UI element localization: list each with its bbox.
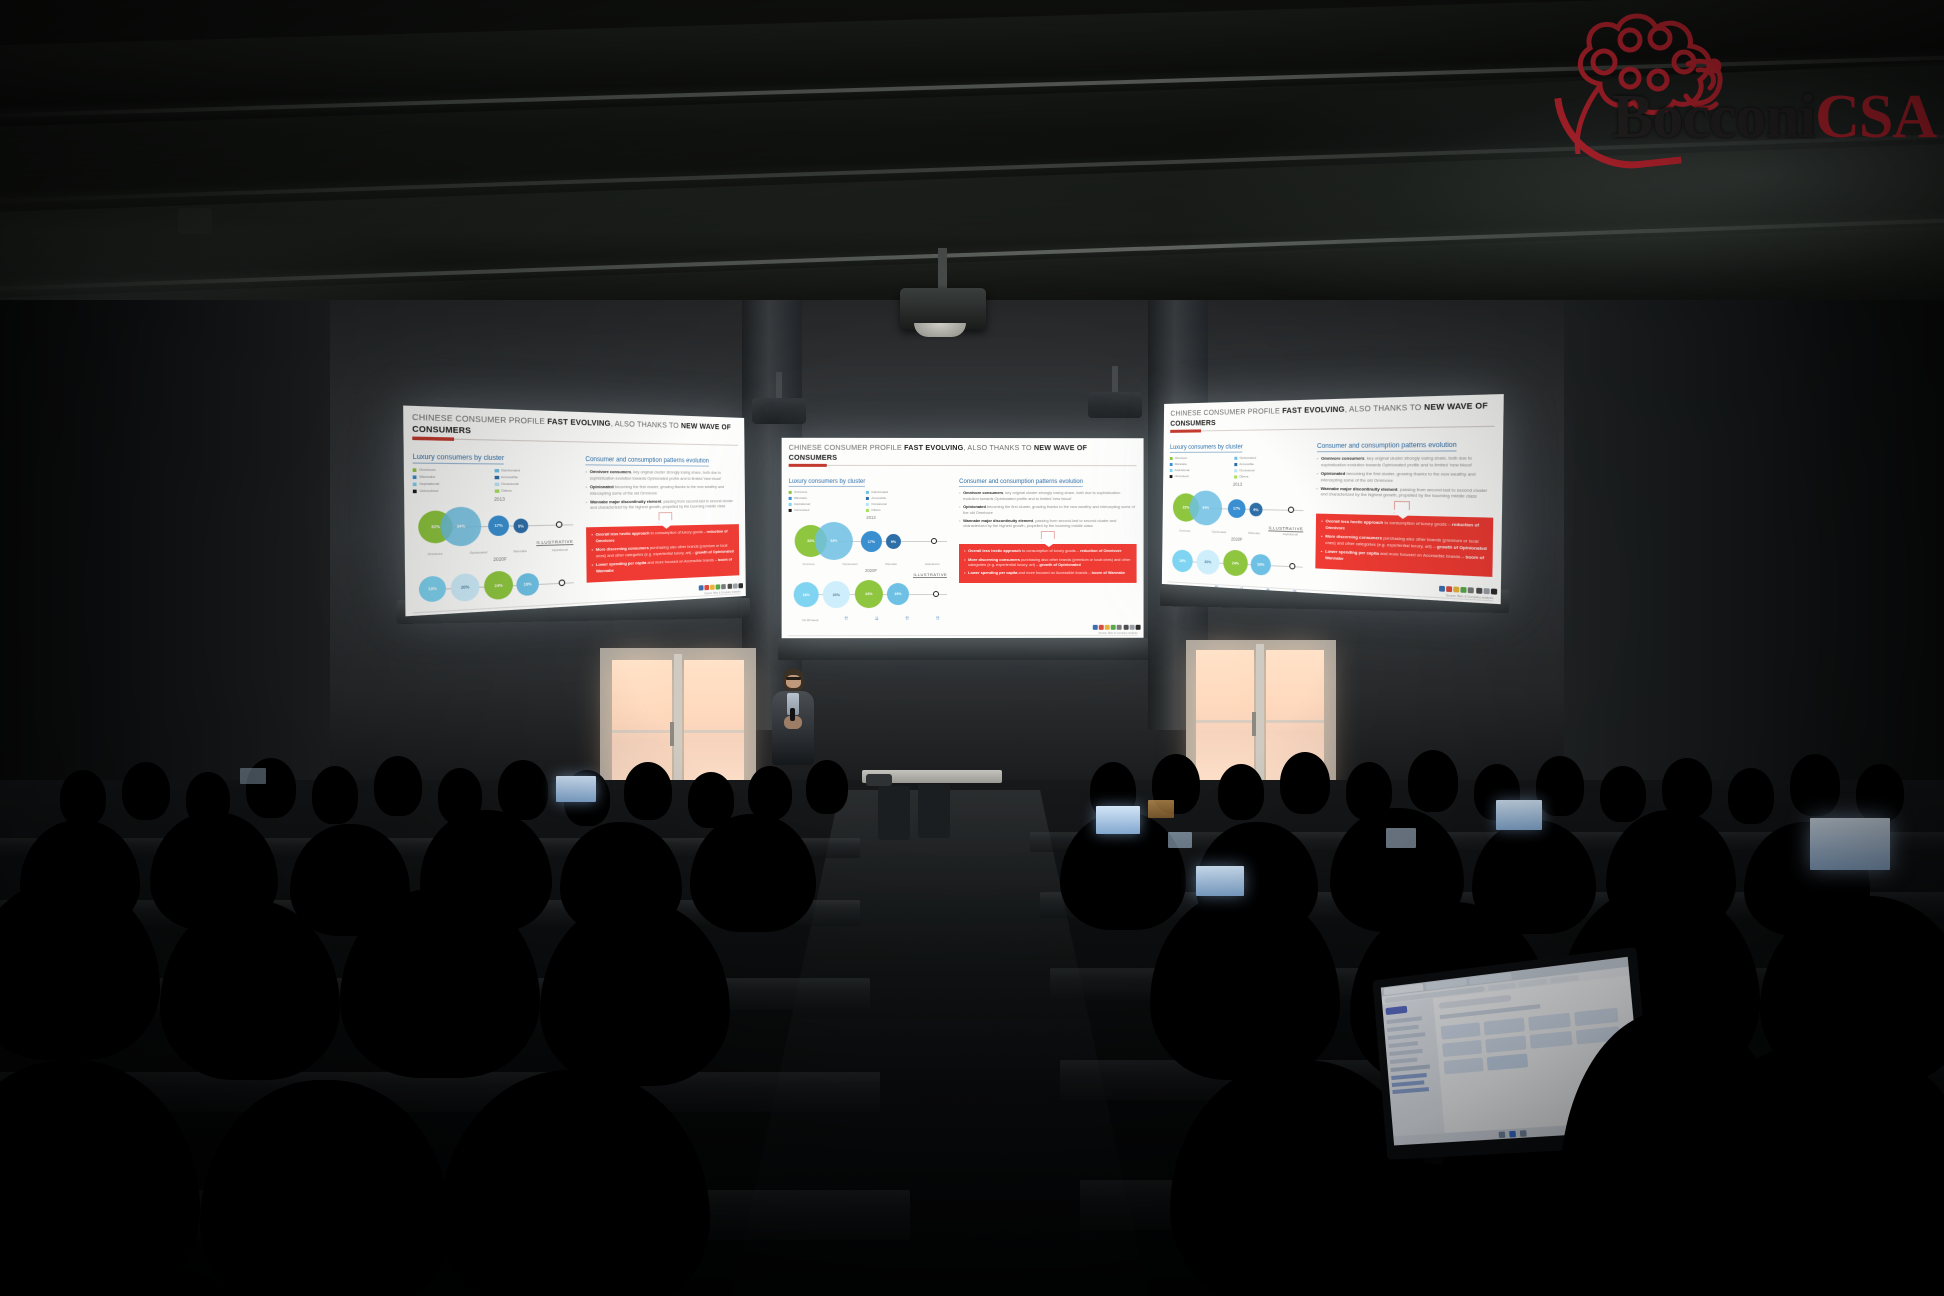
- evolution-bullets: Omnivore consumers, key original cluster…: [959, 490, 1136, 528]
- down-arrow-icon: [1393, 501, 1409, 514]
- evolution-bullets: Omnivore consumers, key original cluster…: [1316, 455, 1494, 500]
- audience-head: [122, 762, 170, 820]
- audience-head: [312, 766, 358, 824]
- bubble-chart-2013: 32% 34% 17% 9%: [789, 521, 954, 561]
- laptop-screen[interactable]: [1810, 818, 1890, 870]
- illustrative-tag: ILLUSTRATIVE: [1269, 525, 1304, 532]
- key-takeaway-callout: Overall less hectic approach to consumpt…: [586, 524, 739, 582]
- chair: [878, 786, 910, 840]
- audience-head: [748, 766, 792, 820]
- key-takeaway-callout: Overall less hectic approach to consumpt…: [959, 544, 1136, 583]
- down-arrow-icon: [1041, 531, 1055, 542]
- chart-legend: Omnivore Opinionated Wannabe Accessible …: [1170, 456, 1311, 480]
- evolution-heading: Consumer and consumption patterns evolut…: [585, 457, 709, 467]
- audience-head: [246, 758, 296, 818]
- laptop-screen[interactable]: [1196, 866, 1244, 896]
- audience-head: [1218, 764, 1264, 820]
- audience-head: [1536, 756, 1584, 816]
- presentation-toolbar[interactable]: [1092, 625, 1140, 630]
- chair: [918, 784, 950, 838]
- illustrative-tag: ILLUSTRATIVE: [537, 539, 574, 547]
- audience-head: [624, 762, 672, 820]
- speaker-with-microphone: [770, 668, 816, 764]
- audience-head: [1600, 766, 1646, 822]
- screen-casing-center: [778, 638, 1148, 660]
- audience-head: [1728, 768, 1774, 824]
- projection-screen-center: CHINESE CONSUMER PROFILE FAST EVOLVING, …: [782, 438, 1144, 638]
- chart-heading: Luxury consumers by cluster: [412, 455, 504, 465]
- audience-head: [1790, 754, 1840, 816]
- side-projector-right-icon: [1088, 392, 1142, 418]
- side-projector-left-icon: [752, 398, 806, 424]
- bocconi-csa-logo: BocconiCSA: [1538, 4, 1938, 154]
- evolution-heading: Consumer and consumption patterns evolut…: [959, 479, 1083, 487]
- bubble-chart-2020: 18% 20% 24% 19%: [1168, 541, 1309, 589]
- audience-head: [374, 756, 422, 816]
- audience-head: [60, 770, 106, 826]
- laptop-screen[interactable]: [1148, 800, 1174, 818]
- chart-heading: Luxury consumers by cluster: [1170, 445, 1243, 454]
- projection-screen-right: CHINESE CONSUMER PROFILE FAST EVOLVING, …: [1162, 394, 1504, 604]
- lecture-hall-scene: CHINESE CONSUMER PROFILE FAST EVOLVING, …: [0, 0, 1944, 1296]
- chart-legend: Omnivore Opinionated Wannabe Accessible …: [413, 468, 580, 494]
- ceiling-vent-icon: [178, 208, 212, 234]
- audience-head: [1662, 758, 1712, 818]
- bubble-chart-2020: 18% 20% 24% 19%: [414, 560, 581, 613]
- laptop-screen[interactable]: [240, 768, 266, 784]
- audience-head: [806, 760, 848, 814]
- chart-legend: Omnivore Opinionated Wannabe Accessible …: [789, 490, 954, 512]
- evolution-bullets: Omnivore consumers, key original cluster…: [585, 469, 738, 511]
- slide-footnote: Source: Bain & Company analysis: [1099, 632, 1138, 635]
- audience-head: [498, 760, 548, 820]
- audience-head: [1856, 764, 1904, 822]
- laptop-screen[interactable]: [556, 776, 596, 802]
- down-arrow-icon: [658, 512, 672, 524]
- glasses-icon: [786, 677, 801, 680]
- audience-head: [1408, 750, 1458, 812]
- laptop-screen[interactable]: [1386, 828, 1416, 848]
- audience-head: [1280, 752, 1330, 814]
- chart-heading: Luxury consumers by cluster: [789, 479, 866, 487]
- ceiling-projector: [900, 288, 986, 330]
- evolution-heading: Consumer and consumption patterns evolut…: [1317, 443, 1457, 453]
- slide-title: CHINESE CONSUMER PROFILE FAST EVOLVING, …: [412, 412, 738, 442]
- bubble-chart-2020: 18% 20% 24% 19%: [789, 574, 954, 614]
- slide-title: CHINESE CONSUMER PROFILE FAST EVOLVING, …: [1170, 400, 1495, 428]
- laptop-screen[interactable]: [1096, 806, 1140, 834]
- chart-year-label: 2013: [789, 515, 954, 520]
- chair: [866, 774, 892, 786]
- key-takeaway-callout: Overall less hectic approach to consumpt…: [1315, 514, 1493, 577]
- laptop-screen[interactable]: [1168, 832, 1192, 848]
- slide-title: CHINESE CONSUMER PROFILE FAST EVOLVING, …: [789, 443, 1137, 463]
- laptop-screen[interactable]: [1496, 800, 1542, 830]
- microphone-icon: [790, 708, 795, 721]
- logo-wordmark: BocconiCSA: [1612, 82, 1936, 153]
- projection-screen-left: CHINESE CONSUMER PROFILE FAST EVOLVING, …: [403, 405, 746, 616]
